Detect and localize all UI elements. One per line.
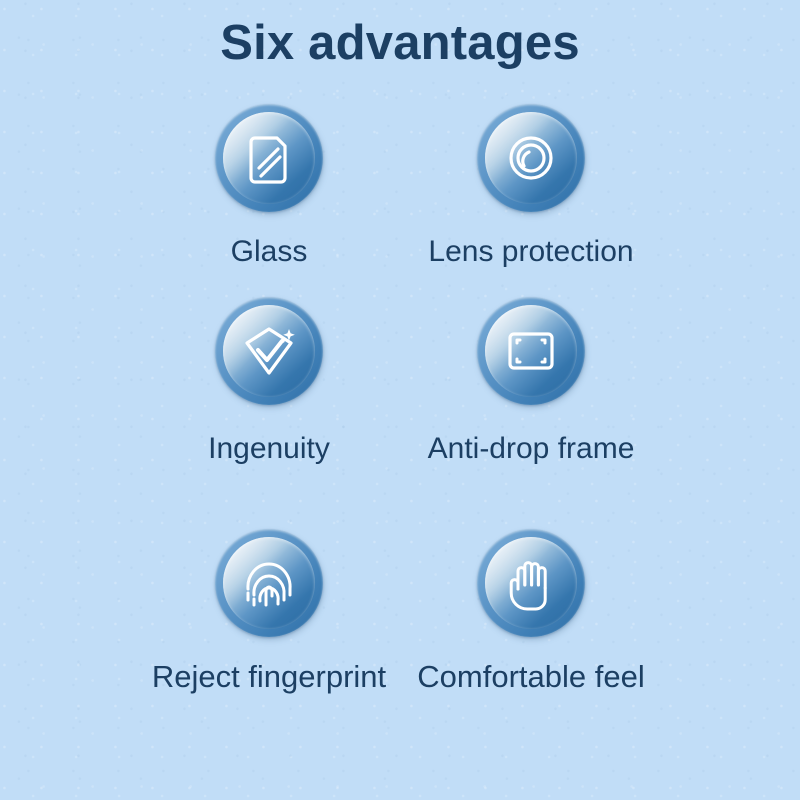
feature-label: Comfortable feel	[417, 660, 644, 694]
badge-disc	[485, 537, 577, 629]
feature-label: Glass	[231, 235, 308, 268]
feature-label: Anti-drop frame	[428, 432, 635, 465]
feature-badge-anti-drop-frame	[468, 288, 594, 414]
feature-item-comfortable-feel[interactable]: Comfortable feel	[400, 520, 662, 700]
camera-lens-icon	[485, 112, 577, 204]
badge-disc	[485, 112, 577, 204]
open-hand-palm-icon	[485, 537, 577, 629]
six-advantages-infographic: Six advantages Glass	[0, 0, 800, 800]
feature-badge-comfortable-feel	[468, 520, 594, 646]
badge-disc	[223, 537, 315, 629]
page-title: Six advantages	[220, 0, 580, 73]
feature-item-glass[interactable]: Glass	[138, 95, 400, 288]
feature-label: Reject fingerprint	[152, 660, 386, 694]
feature-badge-lens-protection	[468, 95, 594, 221]
features-grid: Glass Lens protection	[138, 95, 662, 700]
feature-badge-glass	[206, 95, 332, 221]
feature-badge-ingenuity	[206, 288, 332, 414]
diamond-check-sparkle-icon	[223, 305, 315, 397]
feature-item-lens-protection[interactable]: Lens protection	[400, 95, 662, 288]
badge-disc	[223, 305, 315, 397]
feature-item-reject-fingerprint[interactable]: Reject fingerprint	[138, 520, 400, 700]
feature-badge-reject-fingerprint	[206, 520, 332, 646]
badge-disc	[223, 112, 315, 204]
feature-item-ingenuity[interactable]: Ingenuity	[138, 288, 400, 520]
badge-disc	[485, 305, 577, 397]
feature-item-anti-drop-frame[interactable]: Anti-drop frame	[400, 288, 662, 520]
feature-label: Ingenuity	[208, 432, 330, 465]
fingerprint-icon	[223, 537, 315, 629]
corner-frame-icon	[485, 305, 577, 397]
feature-label: Lens protection	[428, 235, 633, 268]
glass-screen-icon	[223, 112, 315, 204]
